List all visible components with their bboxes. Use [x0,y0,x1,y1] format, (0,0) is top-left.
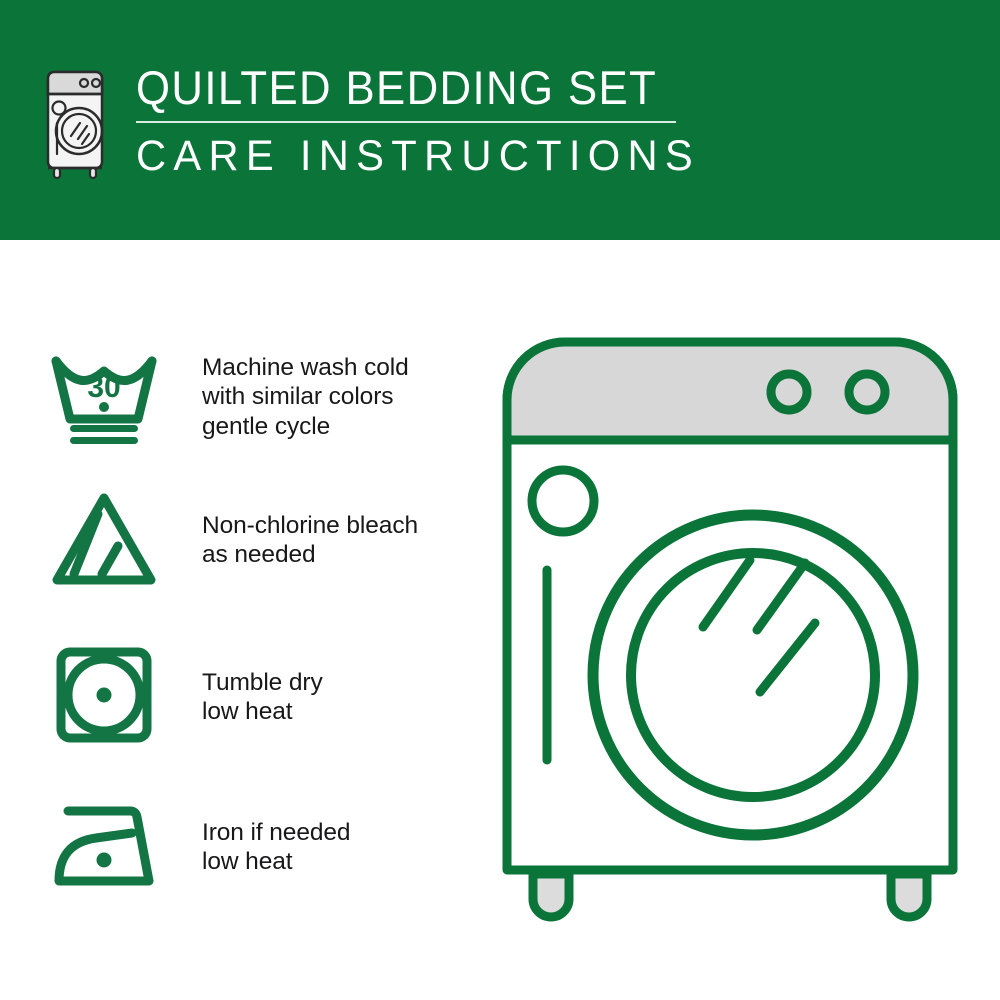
title-divider [136,121,676,123]
care-instructions-infographic: QUILTED BEDDING SET CARE INSTRUCTIONS 30… [0,0,1000,1000]
wash-temperature-label: 30 [87,371,120,404]
machine-leg [891,874,927,917]
care-item: Iron if needed low heat [48,795,468,899]
header-banner: QUILTED BEDDING SET CARE INSTRUCTIONS [0,0,1000,240]
care-item: 30 Machine wash cold with similar colors… [48,345,468,449]
care-instruction-list: 30 Machine wash cold with similar colors… [0,240,480,1000]
care-item: Tumble dry low heat [48,645,468,749]
washing-machine-icon [44,68,106,180]
care-item-label: Machine wash cold with similar colors ge… [202,353,409,442]
care-item-label: Iron if needed low heat [202,818,350,877]
header-content: QUILTED BEDDING SET CARE INSTRUCTIONS [44,62,717,180]
bleach-triangle-icon [48,488,160,592]
tumble-dry-low-icon [48,645,160,749]
care-item: Non-chlorine bleach as needed [48,488,468,592]
page-title: QUILTED BEDDING SET [136,62,677,114]
header-title-group: QUILTED BEDDING SET CARE INSTRUCTIONS [136,62,717,180]
care-item-label: Tumble dry low heat [202,668,323,727]
iron-low-heat-icon [48,795,160,899]
page-subtitle: CARE INSTRUCTIONS [136,132,700,180]
wash-tub-30-gentle-icon: 30 [48,345,160,449]
machine-leg [533,874,569,917]
care-item-label: Non-chlorine bleach as needed [202,511,418,570]
washing-machine-illustration [495,330,965,930]
